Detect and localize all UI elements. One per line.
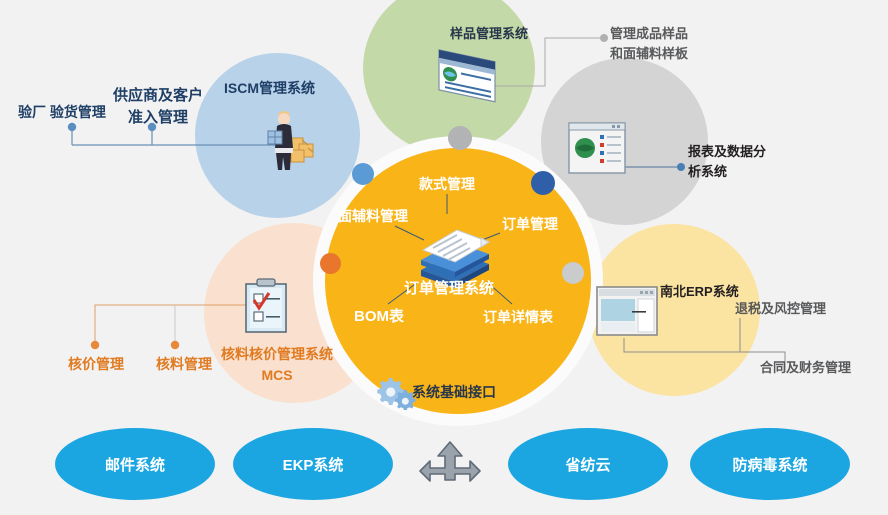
label-contract-finance: 合同及财务管理 [760,360,851,376]
label-material-check: 核料管理 [156,356,212,374]
node-dot-right [562,262,584,284]
label-finished-sample-line2: 和面辅料样板 [610,44,688,64]
label-bom-table: BOM表 [354,308,404,327]
label-style-management: 款式管理 [419,176,475,194]
pill-mail-system[interactable]: 邮件系统 [55,428,215,500]
label-order-system-core: 订单管理系统 [404,280,494,299]
label-supplier-access-line1: 供应商及客户 [113,85,203,107]
node-dot-top [448,126,472,150]
report-window-icon [568,122,626,179]
pill-province-cloud[interactable]: 省纺云 [508,428,668,500]
label-mcs-system: 核料核价管理系统 MCS [221,344,333,386]
label-iscm-system: ISCM管理系统 [224,80,315,98]
label-supplier-access-line2: 准入管理 [113,107,203,129]
label-mcs-system-line2: MCS [221,365,333,386]
label-report-system-line1: 报表及数据分 [688,142,766,162]
label-finished-sample-line1: 管理成品样品 [610,24,688,44]
label-report-system-line2: 析系统 [688,162,766,182]
node-dot-top-left [352,163,374,185]
clipboard-checklist-icon [243,278,289,339]
diagram-canvas: 验厂 验货管理 供应商及客户 准入管理 ISCM管理系统 样品管理系统 管理成品… [0,0,888,515]
label-price-check: 核价管理 [68,356,124,374]
pill-antivirus-system[interactable]: 防病毒系统 [690,428,850,500]
label-supplier-access: 供应商及客户 准入管理 [113,85,203,129]
erp-window-icon [596,286,658,341]
browser-window-icon [435,47,501,114]
label-factory-inspection: 验厂 验货管理 [18,104,106,122]
pill-ekp-system[interactable]: EKP系统 [233,428,393,500]
three-way-arrow-icon [418,440,482,499]
person-with-boxes-icon [258,110,322,177]
label-mcs-system-line1: 核料核价管理系统 [221,344,333,365]
label-system-interface: 系统基础接口 [412,384,496,402]
label-finished-sample: 管理成品样品 和面辅料样板 [610,24,688,63]
label-tax-risk: 退税及风控管理 [735,301,826,317]
label-erp-system: 南北ERP系统 [660,284,739,300]
label-order-detail: 订单详情表 [483,309,553,327]
label-report-system: 报表及数据分 析系统 [688,142,766,181]
node-dot-left [320,253,341,274]
label-fabric-management: 面辅料管理 [338,208,408,226]
label-order-management: 订单管理 [502,216,558,234]
label-sample-system: 样品管理系统 [450,26,528,42]
node-dot-top-right [531,171,555,195]
